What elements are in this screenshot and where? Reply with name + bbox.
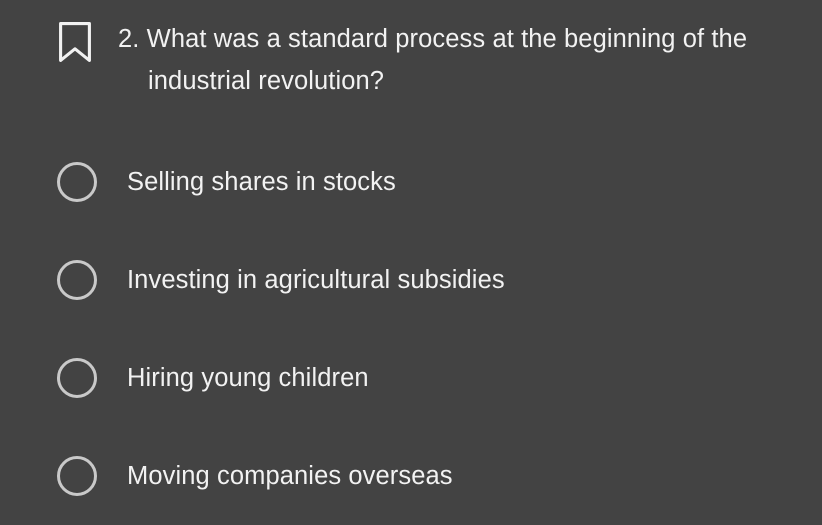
option-label-a: Selling shares in stocks <box>127 166 792 198</box>
option-label-d: Moving companies overseas <box>127 460 792 492</box>
option-row-a[interactable]: Selling shares in stocks <box>0 133 822 231</box>
option-row-d[interactable]: Moving companies overseas <box>0 427 822 525</box>
bookmark-icon[interactable] <box>0 18 92 63</box>
question-text: 2. What was a standard process at the be… <box>118 18 782 102</box>
radio-unchecked-icon[interactable] <box>57 260 97 300</box>
option-row-c[interactable]: Hiring young children <box>0 329 822 427</box>
options-list: Selling shares in stocks Investing in ag… <box>0 133 822 525</box>
radio-unchecked-icon[interactable] <box>57 456 97 496</box>
radio-unchecked-icon[interactable] <box>57 358 97 398</box>
radio-unchecked-icon[interactable] <box>57 162 97 202</box>
question-block: 2. What was a standard process at the be… <box>0 18 822 102</box>
option-label-b: Investing in agricultural subsidies <box>127 264 792 296</box>
option-row-b[interactable]: Investing in agricultural subsidies <box>0 231 822 329</box>
quiz-question-screen: 2. What was a standard process at the be… <box>0 0 822 489</box>
option-label-c: Hiring young children <box>127 362 792 394</box>
